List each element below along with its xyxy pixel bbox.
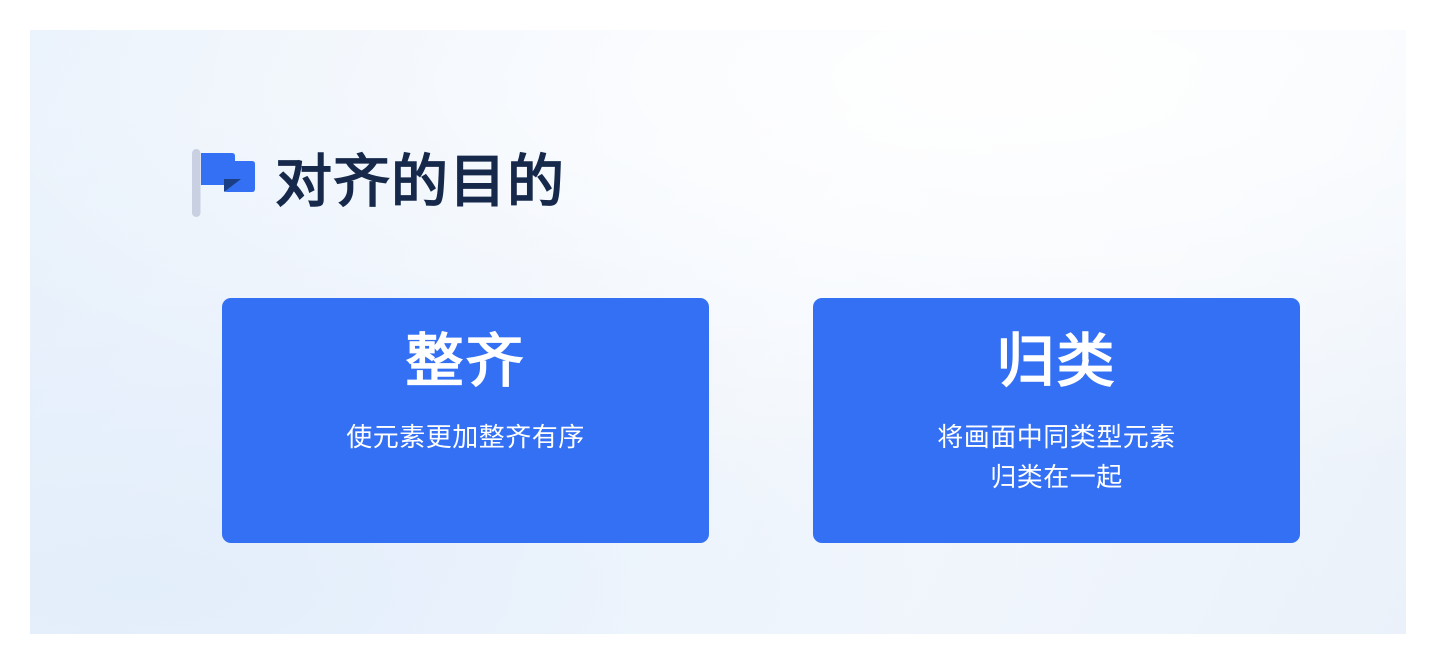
- header: 对齐的目的: [187, 134, 565, 230]
- card-subtitle: 使元素更加整齐有序: [346, 417, 585, 457]
- cards-row: 整齐 使元素更加整齐有序 归类 将画面中同类型元素 归类在一起: [222, 298, 1300, 543]
- slide-canvas: 对齐的目的 整齐 使元素更加整齐有序 归类 将画面中同类型元素 归类在一起: [0, 0, 1436, 662]
- content-panel: 对齐的目的 整齐 使元素更加整齐有序 归类 将画面中同类型元素 归类在一起: [30, 30, 1406, 634]
- flag-icon: [187, 145, 261, 221]
- card-heading: 整齐: [405, 330, 525, 395]
- card-heading: 归类: [996, 330, 1116, 395]
- card-subtitle: 将画面中同类型元素 归类在一起: [937, 417, 1176, 497]
- card-grouping[interactable]: 归类 将画面中同类型元素 归类在一起: [813, 298, 1300, 543]
- page-title: 对齐的目的: [275, 154, 565, 211]
- card-neat[interactable]: 整齐 使元素更加整齐有序: [222, 298, 709, 543]
